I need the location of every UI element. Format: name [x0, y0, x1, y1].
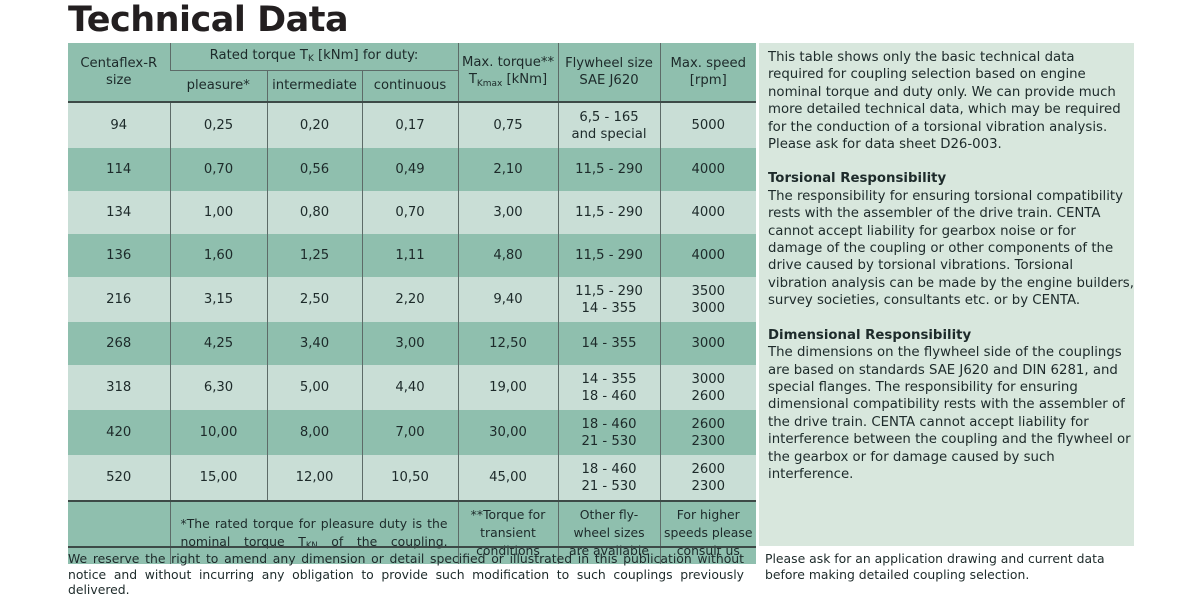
col-header-size-line2: size	[106, 73, 132, 88]
cell-max-torque: 19,00	[458, 365, 558, 410]
cell-size: 94	[68, 102, 170, 148]
cell-intermediate: 0,20	[267, 102, 362, 148]
side-panel-intro: This table shows only the basic technica…	[768, 49, 1134, 153]
col-header-size-line1: Centaflex-R	[80, 56, 157, 71]
cell-max-torque: 3,00	[458, 191, 558, 234]
col-header-max-torque-unit: [kNm]	[502, 72, 547, 87]
spacer-2	[768, 310, 1134, 327]
col-header-max-torque-symbol: T	[469, 72, 477, 87]
technical-data-table: Centaflex-R size Rated torque TK [kNm] f…	[68, 43, 756, 564]
cell-intermediate: 3,40	[267, 322, 362, 365]
cell-pleasure: 3,15	[170, 277, 267, 322]
cell-max-torque: 45,00	[458, 455, 558, 501]
rated-torque-subscript: K	[308, 54, 314, 64]
col-header-continuous: continuous	[362, 70, 458, 102]
section-body-dimensional: The dimensions on the flywheel side of t…	[768, 344, 1134, 483]
cell-continuous: 0,17	[362, 102, 458, 148]
cell-max-speed: 3000	[660, 322, 756, 365]
cell-flywheel: 11,5 - 290	[558, 234, 660, 277]
cell-max-speed: 4000	[660, 234, 756, 277]
col-header-intermediate: intermediate	[267, 70, 362, 102]
cell-pleasure: 6,30	[170, 365, 267, 410]
table-row: 2684,253,403,0012,5014 - 3553000	[68, 322, 756, 365]
table-row: 3186,305,004,4019,0014 - 35518 - 4603000…	[68, 365, 756, 410]
cell-continuous: 1,11	[362, 234, 458, 277]
cell-flywheel: 14 - 355	[558, 322, 660, 365]
cell-intermediate: 0,80	[267, 191, 362, 234]
col-header-flywheel: Flywheel size SAE J620	[558, 43, 660, 102]
side-info-panel: This table shows only the basic technica…	[759, 43, 1134, 546]
cell-max-torque: 9,40	[458, 277, 558, 322]
cell-continuous: 2,20	[362, 277, 458, 322]
cell-pleasure: 1,00	[170, 191, 267, 234]
technical-data-table-container: Centaflex-R size Rated torque TK [kNm] f…	[68, 43, 756, 564]
section-heading-dimensional: Dimensional Responsibility	[768, 327, 1134, 344]
cell-flywheel: 11,5 - 290	[558, 191, 660, 234]
cell-size: 114	[68, 148, 170, 191]
table-row: 42010,008,007,0030,0018 - 46021 - 530260…	[68, 410, 756, 455]
table-bottom-rule	[68, 546, 756, 548]
cell-max-torque: 12,50	[458, 322, 558, 365]
cell-max-speed: 26002300	[660, 410, 756, 455]
col-header-max-speed: Max. speed [rpm]	[660, 43, 756, 102]
cell-size: 420	[68, 410, 170, 455]
cell-size: 268	[68, 322, 170, 365]
rated-torque-group-tail: [kNm] for duty:	[314, 48, 419, 63]
table-row: 2163,152,502,209,4011,5 - 29014 - 355350…	[68, 277, 756, 322]
cell-max-speed: 30002600	[660, 365, 756, 410]
footnote-tkn-subscript: KN	[306, 540, 318, 550]
cell-intermediate: 8,00	[267, 410, 362, 455]
cell-max-speed: 35003000	[660, 277, 756, 322]
cell-intermediate: 2,50	[267, 277, 362, 322]
cell-max-speed: 26002300	[660, 455, 756, 501]
cell-flywheel: 14 - 35518 - 460	[558, 365, 660, 410]
rated-torque-group-text: Rated torque T	[210, 48, 308, 63]
cell-size: 318	[68, 365, 170, 410]
cell-size: 136	[68, 234, 170, 277]
cell-intermediate: 5,00	[267, 365, 362, 410]
cell-flywheel: 11,5 - 29014 - 355	[558, 277, 660, 322]
table-row: 52015,0012,0010,5045,0018 - 46021 - 5302…	[68, 455, 756, 501]
bottom-note-right: Please ask for an application drawing an…	[765, 551, 1135, 582]
col-header-size: Centaflex-R size	[68, 43, 170, 102]
section-heading-torsional: Torsional Responsibility	[768, 170, 1134, 187]
col-header-flywheel-line2: SAE J620	[579, 73, 638, 88]
cell-max-torque: 0,75	[458, 102, 558, 148]
cell-pleasure: 15,00	[170, 455, 267, 501]
cell-max-torque: 2,10	[458, 148, 558, 191]
cell-max-speed: 5000	[660, 102, 756, 148]
col-header-max-speed-line2: [rpm]	[690, 73, 727, 88]
cell-max-torque: 30,00	[458, 410, 558, 455]
section-body-torsional: The responsibility for ensuring torsiona…	[768, 188, 1134, 310]
cell-flywheel: 6,5 - 165and special	[558, 102, 660, 148]
table-row: 1140,700,560,492,1011,5 - 2904000	[68, 148, 756, 191]
table-row: 1361,601,251,114,8011,5 - 2904000	[68, 234, 756, 277]
cell-size: 134	[68, 191, 170, 234]
table-body: 940,250,200,170,756,5 - 165and special50…	[68, 102, 756, 501]
col-header-flywheel-line1: Flywheel size	[565, 56, 653, 71]
col-header-rated-torque-group: Rated torque TK [kNm] for duty:	[170, 43, 458, 70]
cell-pleasure: 0,70	[170, 148, 267, 191]
cell-continuous: 7,00	[362, 410, 458, 455]
spacer-1	[768, 153, 1134, 170]
cell-pleasure: 0,25	[170, 102, 267, 148]
cell-intermediate: 1,25	[267, 234, 362, 277]
table-row: 1341,000,800,703,0011,5 - 2904000	[68, 191, 756, 234]
cell-max-speed: 4000	[660, 191, 756, 234]
cell-pleasure: 10,00	[170, 410, 267, 455]
max-torque-subscript: Kmax	[477, 79, 502, 89]
table-row: 940,250,200,170,756,5 - 165and special50…	[68, 102, 756, 148]
cell-flywheel: 18 - 46021 - 530	[558, 455, 660, 501]
col-header-max-torque-line1: Max. torque**	[462, 55, 554, 70]
cell-size: 520	[68, 455, 170, 501]
col-header-max-torque: Max. torque** TKmax [kNm]	[458, 43, 558, 102]
cell-flywheel: 18 - 46021 - 530	[558, 410, 660, 455]
page-title: Technical Data	[68, 0, 348, 42]
col-header-pleasure: pleasure*	[170, 70, 267, 102]
cell-max-torque: 4,80	[458, 234, 558, 277]
cell-pleasure: 1,60	[170, 234, 267, 277]
col-header-max-speed-line1: Max. speed	[671, 56, 747, 71]
cell-continuous: 0,70	[362, 191, 458, 234]
cell-intermediate: 12,00	[267, 455, 362, 501]
technical-data-page: Technical Data Centaflex-R size	[0, 0, 1188, 607]
cell-intermediate: 0,56	[267, 148, 362, 191]
table-head: Centaflex-R size Rated torque TK [kNm] f…	[68, 43, 756, 102]
cell-continuous: 3,00	[362, 322, 458, 365]
bottom-note-left: We reserve the right to amend any dimens…	[68, 551, 744, 598]
cell-pleasure: 4,25	[170, 322, 267, 365]
cell-flywheel: 11,5 - 290	[558, 148, 660, 191]
cell-max-speed: 4000	[660, 148, 756, 191]
cell-size: 216	[68, 277, 170, 322]
cell-continuous: 10,50	[362, 455, 458, 501]
cell-continuous: 0,49	[362, 148, 458, 191]
cell-continuous: 4,40	[362, 365, 458, 410]
